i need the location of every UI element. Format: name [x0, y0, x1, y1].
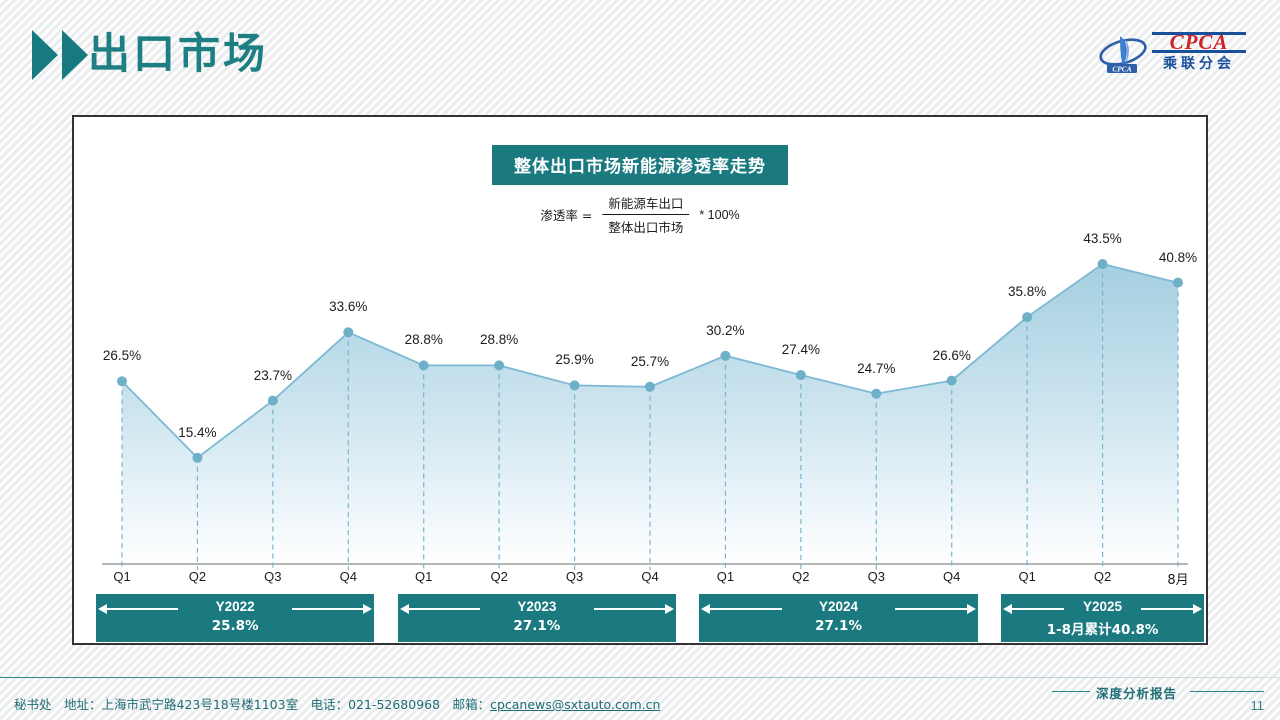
- chart-value-label: 35.8%: [1008, 284, 1046, 299]
- x-axis-tick-label: Q4: [641, 569, 658, 584]
- chart-value-label: 27.4%: [782, 342, 820, 357]
- chart-data-point[interactable]: [268, 396, 278, 406]
- chart-value-label: 24.7%: [857, 361, 895, 376]
- logo-subtitle: 乘联分会: [1152, 54, 1246, 74]
- x-axis-tick-label: Q3: [264, 569, 281, 584]
- chart-value-label: 40.8%: [1159, 250, 1197, 265]
- banner-value-label: 27.1%: [398, 618, 676, 634]
- year-summary-banner: Y202225.8%: [96, 594, 374, 642]
- page-title: 出口市场: [88, 26, 268, 82]
- footer-divider: [0, 677, 1280, 678]
- banner-year-label: Y2022: [96, 599, 374, 614]
- footer-rule-left-dash: [1052, 691, 1090, 692]
- footer-contact: 秘书处 地址：上海市武宁路423号18号楼1103室 电话：021-526809…: [14, 694, 660, 713]
- banner-value-label: 1-8月累计40.8%: [1001, 618, 1204, 638]
- chart-data-point[interactable]: [871, 389, 881, 399]
- x-axis-tick-label: Q1: [113, 569, 130, 584]
- chart-data-point[interactable]: [720, 351, 730, 361]
- chart-data-point[interactable]: [1173, 278, 1183, 288]
- cpca-logo: CPCA CPCA 乘联分会: [1098, 28, 1246, 78]
- chart-data-point[interactable]: [796, 370, 806, 380]
- x-axis-tick-label: Q2: [1094, 569, 1111, 584]
- x-axis-tick-label: Q4: [340, 569, 357, 584]
- x-axis-tick-label: Q1: [415, 569, 432, 584]
- chart-value-label: 30.2%: [706, 323, 744, 338]
- banner-year-label: Y2024: [699, 599, 977, 614]
- x-axis-tick-label: Q1: [717, 569, 734, 584]
- chart-data-point[interactable]: [645, 382, 655, 392]
- banner-year-label: Y2025: [1001, 599, 1204, 614]
- banner-value-label: 27.1%: [699, 618, 977, 634]
- chart-value-label: 33.6%: [329, 299, 367, 314]
- footer-report-label: 深度分析报告: [1096, 683, 1177, 702]
- x-axis-tick-label: Q2: [490, 569, 507, 584]
- chart-data-point[interactable]: [419, 360, 429, 370]
- x-axis-tick-label: 8月: [1167, 569, 1188, 588]
- chart-value-label: 25.9%: [555, 352, 593, 367]
- year-summary-banner: Y202327.1%: [398, 594, 676, 642]
- cpca-swirl-logo-icon: CPCA: [1098, 32, 1148, 76]
- chart-value-label: 15.4%: [178, 425, 216, 440]
- x-axis-tick-label: Q4: [943, 569, 960, 584]
- logo-acronym: CPCA: [1152, 30, 1246, 54]
- footer-email-link[interactable]: cpcanews@sxtauto.com.cn: [490, 697, 660, 712]
- x-axis-tick-label: Q2: [189, 569, 206, 584]
- x-axis-tick-label: Q3: [566, 569, 583, 584]
- x-axis-tick-label: Q1: [1018, 569, 1035, 584]
- chart-value-label: 26.5%: [103, 348, 141, 363]
- x-axis-tick-label: Q3: [868, 569, 885, 584]
- chart-value-label: 26.6%: [933, 348, 971, 363]
- chart-value-label: 28.8%: [405, 332, 443, 347]
- footer-rule-right-dash: [1190, 691, 1264, 692]
- chart-data-point[interactable]: [494, 360, 504, 370]
- x-axis-tick-label: Q2: [792, 569, 809, 584]
- svg-text:CPCA: CPCA: [1112, 64, 1131, 73]
- chart-data-point[interactable]: [570, 380, 580, 390]
- year-summary-banner: Y20251-8月累计40.8%: [1001, 594, 1204, 642]
- chart-value-label: 25.7%: [631, 354, 669, 369]
- chart-data-point[interactable]: [1098, 259, 1108, 269]
- chart-data-point[interactable]: [117, 376, 127, 386]
- footer-secretariat-text: 秘书处 地址：上海市武宁路423号18号楼1103室 电话：021-526809…: [14, 697, 490, 712]
- chart-value-label: 23.7%: [254, 368, 292, 383]
- chart-svg: [74, 117, 1210, 647]
- page-header: 出口市场 CPCA CPCA 乘联分会: [0, 0, 1280, 104]
- chart-value-label: 43.5%: [1083, 231, 1121, 246]
- chart-data-point[interactable]: [1022, 312, 1032, 322]
- chart-value-label: 28.8%: [480, 332, 518, 347]
- double-chevron-right-icon: [32, 30, 94, 80]
- year-summary-banner: Y202427.1%: [699, 594, 977, 642]
- chart-data-point[interactable]: [947, 376, 957, 386]
- chart-panel: 整体出口市场新能源渗透率走势 渗透率 = 新能源车出口 整体出口市场 * 100…: [72, 115, 1208, 645]
- banner-year-label: Y2023: [398, 599, 676, 614]
- chart-data-point[interactable]: [343, 327, 353, 337]
- banner-value-label: 25.8%: [96, 618, 374, 634]
- page-number: 11: [1251, 698, 1265, 713]
- line-chart-plot: 26.5%Q115.4%Q223.7%Q333.6%Q428.8%Q128.8%…: [74, 117, 1210, 647]
- chart-data-point[interactable]: [192, 453, 202, 463]
